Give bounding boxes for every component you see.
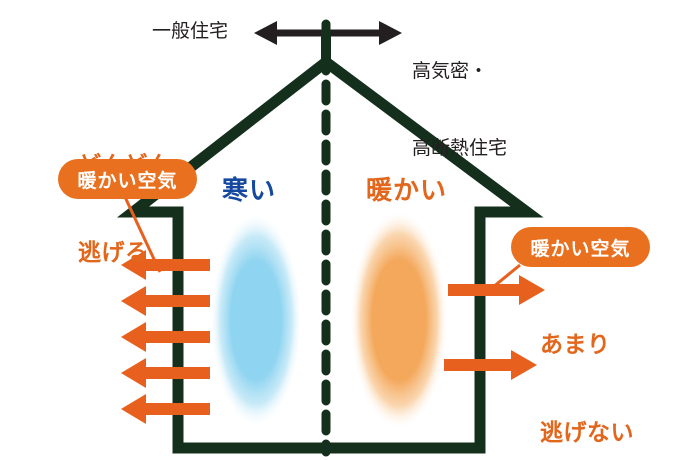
- caption-barely-escapes-line2: 逃げない: [540, 419, 634, 448]
- label-room-cold: 寒い: [222, 176, 276, 207]
- label-high-performance-line1: 高気密・: [412, 59, 507, 85]
- caption-barely-escapes-line1: あまり: [540, 331, 634, 360]
- label-room-warm: 暖かい: [366, 176, 447, 207]
- pill-warm-air-right: 暖かい空気: [511, 227, 650, 267]
- diagram-canvas: 一般住宅 高気密・ 高断熱住宅 どんどん 逃げる 暖かい空気 寒い 暖かい 暖か…: [0, 0, 690, 460]
- header-arrow-stem: [321, 33, 331, 61]
- label-high-performance-line2: 高断熱住宅: [412, 136, 507, 162]
- caption-escapes-rapidly: どんどん 逃げる: [78, 92, 171, 328]
- caption-escapes-rapidly-line2: 逃げる: [78, 239, 171, 268]
- warm-zone-blob: [350, 210, 448, 430]
- pill-warm-air-left: 暖かい空気: [58, 159, 197, 199]
- label-general-house: 一般住宅: [152, 20, 228, 42]
- heat-escape-arrows-right: [444, 275, 545, 380]
- cold-zone-blob: [210, 212, 302, 428]
- caption-barely-escapes: あまり 逃げない: [540, 272, 634, 460]
